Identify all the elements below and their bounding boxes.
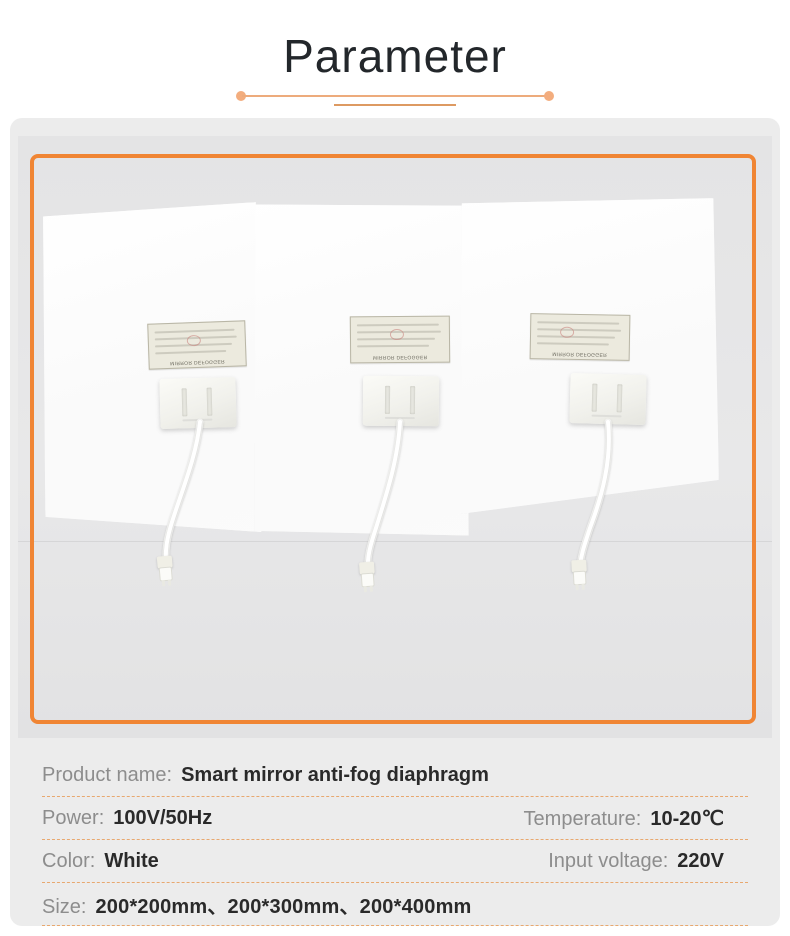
cable-core [580,422,609,570]
product-spec-label: MIRROR DEFOGGER [530,313,631,361]
product-spec-label: MIRROR DEFOGGER [147,320,247,369]
spec-cell: Input voltage: 220V [548,850,748,873]
label-brand-text: MIRROR DEFOGGER [150,357,246,366]
spec-row-power-temperature: Power: 100V/50Hz Temperature: 10-20℃ [42,797,748,840]
spec-row-size: Size: 200*200mm、200*300mm、200*400mm [42,883,748,926]
spec-cell: Power: 100V/50Hz [42,807,212,830]
spec-value: 220V [677,850,724,873]
divider-underline [334,104,456,106]
spec-label: Color: [42,850,95,873]
plug-pin [575,584,578,590]
product-photo-image: MIRROR DEFOGGER [18,136,772,738]
title-divider [236,90,554,102]
plug-pin [168,580,172,586]
spec-value: 10-20℃ [650,806,724,831]
spec-cell: Size: 200*200mm、200*300mm、200*400mm [42,890,472,919]
divider-dot-right [544,91,554,101]
parameter-page: Parameter [0,0,790,936]
plug-pin [364,586,367,592]
spec-value: 100V/50Hz [113,807,212,830]
plug-head [573,571,587,586]
label-text-line [357,324,439,327]
spec-label: Product name: [42,764,172,787]
label-text-line [537,321,619,324]
label-text-line [537,342,610,345]
pad-slot [385,386,391,414]
pad-slot [207,388,213,416]
cable-core [166,422,200,564]
label-text-line [154,329,235,334]
label-text-line [537,335,615,338]
spec-cell: Product name: Smart mirror anti-fog diap… [42,764,489,787]
label-brand-text: MIRROR DEFOGGER [351,354,449,361]
spec-value: Smart mirror anti-fog diaphragm [181,764,489,787]
label-text-line [537,328,621,331]
pad-slot [182,388,188,416]
cable-plug [359,562,376,593]
spec-label: Input voltage: [548,850,668,873]
spec-value: White [104,850,158,873]
spec-cell: Color: White [42,850,159,873]
pad-slot [617,384,623,412]
plug-pin [370,586,373,592]
power-cable [138,418,228,578]
plug-pin [162,580,166,586]
spec-row-color-voltage: Color: White Input voltage: 220V [42,840,748,883]
product-photo: MIRROR DEFOGGER [18,136,772,738]
spec-list: Product name: Smart mirror anti-fog diap… [10,754,780,926]
spec-label: Size: [42,896,86,919]
spec-label: Temperature: [524,808,642,831]
cable-plug [571,560,588,591]
plug-pin [581,584,584,590]
page-title: Parameter [0,29,790,83]
spec-cell: Temperature: 10-20℃ [524,806,748,831]
pad-slot [410,386,416,414]
divider-line [242,95,548,97]
spec-value: 200*200mm、200*300mm、200*400mm [95,890,471,919]
label-brand-text: MIRROR DEFOGGER [531,350,629,358]
product-spec-label: MIRROR DEFOGGER [350,316,450,364]
plug-head [361,573,375,588]
power-cable [546,416,646,581]
spec-label: Power: [42,807,104,830]
pad-slot [592,384,598,412]
page-header: Parameter [0,0,790,118]
power-cable [336,418,426,583]
label-text-line [155,350,226,354]
cable-plug [157,555,175,586]
spec-row-product-name: Product name: Smart mirror anti-fog diap… [42,754,748,797]
parameter-card: MIRROR DEFOGGER [10,118,780,926]
label-text-line [357,345,430,348]
